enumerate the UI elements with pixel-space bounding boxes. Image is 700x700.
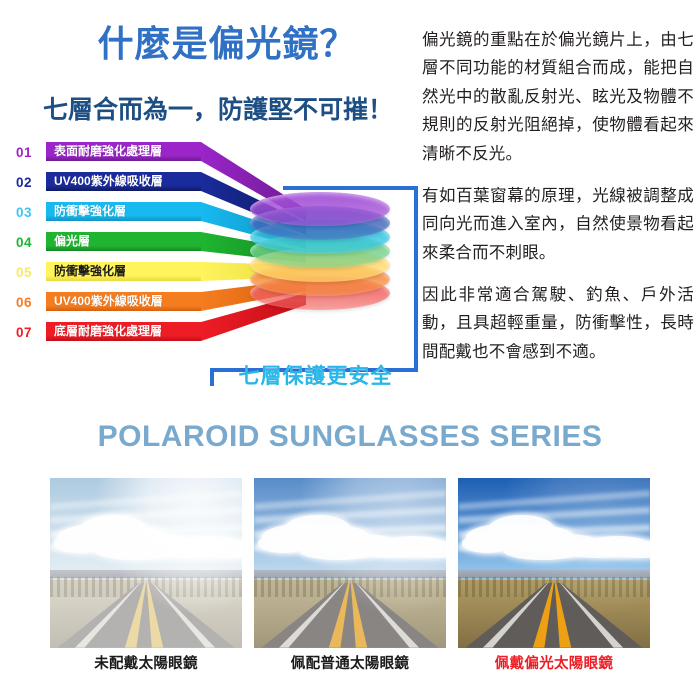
layer-label: UV400紫外線吸收層: [54, 172, 199, 191]
road-photo: [50, 478, 242, 648]
layer-row: 02UV400紫外線吸收層: [14, 172, 414, 194]
infographic-page: 什麼是偏光鏡？ 七層合而為一，防護堅不可摧！ 偏光鏡的重點在於偏光鏡片上，由七層…: [0, 0, 700, 700]
layer-label: 底層耐磨強化處理層: [54, 322, 199, 341]
comparison-photo-card: 佩戴偏光太陽眼鏡: [458, 478, 650, 648]
description-paragraph-3: 因此非常適合駕駛、釣魚、戶外活動，且具超輕重量，防衝擊性，長時間配戴也不會感到不…: [422, 281, 694, 366]
haze-overlay: [254, 478, 446, 648]
layer-label: 偏光層: [54, 232, 199, 251]
comparison-photo-card: 佩配普通太陽眼鏡: [254, 478, 446, 648]
layer-connector-ribbon: [201, 142, 306, 161]
description-paragraph-2: 有如百葉窗幕的原理，光線被調整成同向光而進入室內，自然使景物看起來柔合而不刺眼。: [422, 182, 694, 267]
photo-caption: 佩配普通太陽眼鏡: [254, 652, 446, 673]
comparison-photo-card: 未配戴太陽眼鏡: [50, 478, 242, 648]
layer-bar: 防衝擊強化層: [46, 202, 201, 221]
layer-number: 07: [16, 324, 42, 342]
layer-number: 06: [16, 294, 42, 312]
series-title: POLAROID SUNGLASSES SERIES: [0, 420, 700, 454]
layer-row: 01表面耐磨強化處理層: [14, 142, 414, 164]
layer-bar: UV400紫外線吸收層: [46, 292, 201, 311]
photo-caption: 佩戴偏光太陽眼鏡: [458, 652, 650, 673]
haze-overlay: [458, 478, 650, 648]
layer-bar: 偏光層: [46, 232, 201, 251]
layer-number: 01: [16, 144, 42, 162]
layer-bar: 表面耐磨強化處理層: [46, 142, 201, 161]
layer-label: 表面耐磨強化處理層: [54, 142, 199, 161]
description-paragraph-1: 偏光鏡的重點在於偏光鏡片上，由七層不同功能的材質組合而成，能把自然光中的散亂反射…: [422, 26, 694, 168]
layer-number: 03: [16, 204, 42, 222]
layer-connector-ribbon: [201, 172, 306, 191]
layer-label: 防衝擊強化層: [54, 262, 199, 281]
layer-number: 02: [16, 174, 42, 192]
road-photo: [254, 478, 446, 648]
lens-layer-ellipse: [250, 192, 390, 226]
page-subtitle: 七層合而為一，防護堅不可摧！: [14, 96, 422, 125]
comparison-photo-row: 未配戴太陽眼鏡佩配普通太陽眼鏡佩戴偏光太陽眼鏡: [50, 478, 650, 648]
photo-caption: 未配戴太陽眼鏡: [50, 652, 242, 673]
layer-number: 05: [16, 264, 42, 282]
description-column: 偏光鏡的重點在於偏光鏡片上，由七層不同功能的材質組合而成，能把自然光中的散亂反射…: [422, 26, 694, 380]
haze-overlay: [50, 478, 242, 648]
layer-bar: 底層耐磨強化處理層: [46, 322, 201, 341]
seven-layer-safety-label: 七層保護更安全: [213, 360, 418, 390]
layer-bar: UV400紫外線吸收層: [46, 172, 201, 191]
layer-label: 防衝擊強化層: [54, 202, 199, 221]
road-photo: [458, 478, 650, 648]
lens-stack-diagram: [250, 192, 390, 332]
page-title: 什麼是偏光鏡？: [32, 24, 422, 64]
layer-number: 04: [16, 234, 42, 252]
layer-label: UV400紫外線吸收層: [54, 292, 199, 311]
layer-bar: 防衝擊強化層: [46, 262, 201, 281]
bracket-right: [414, 186, 418, 372]
